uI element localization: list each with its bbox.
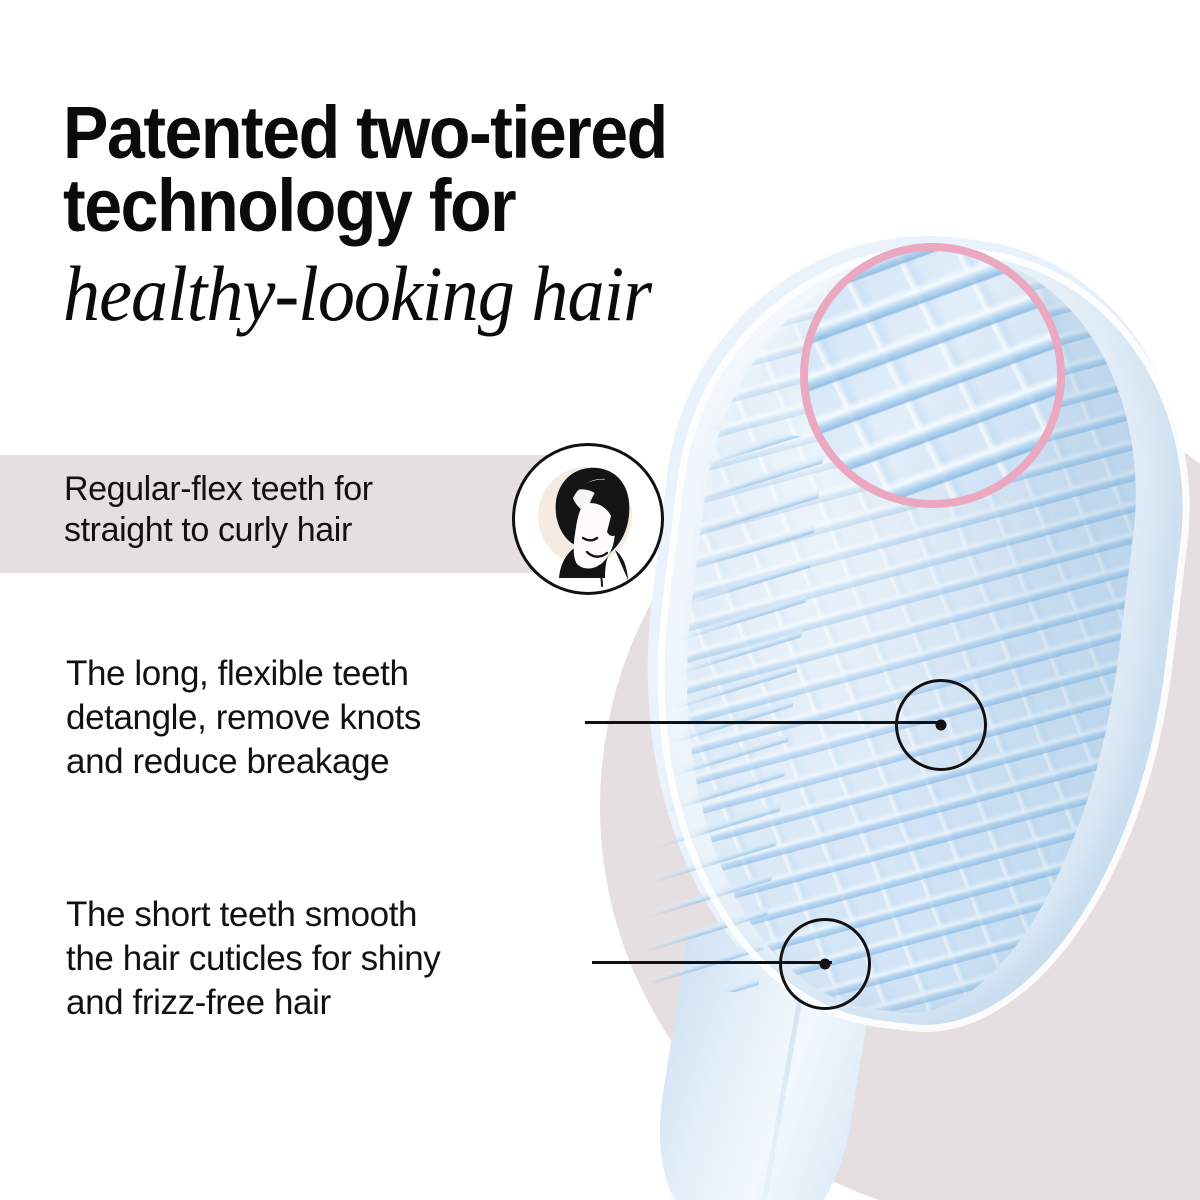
long-teeth-marker-dot (936, 720, 947, 731)
short-teeth-marker (779, 918, 871, 1010)
short-teeth-marker-dot (820, 959, 831, 970)
headline-italic-text: healthy-looking hair (63, 255, 861, 333)
long-teeth-marker (895, 679, 987, 771)
callout-long-teeth-leader-line (585, 721, 937, 724)
page-title: Patented two-tiered technology for healt… (63, 96, 903, 333)
feature-band-label: Regular-flex teeth for straight to curly… (64, 469, 504, 552)
callout-long-teeth-text: The long, flexible teeth detangle, remov… (66, 652, 586, 784)
headline-bold-text: Patented two-tiered technology for (63, 96, 836, 243)
callout-short-teeth-text: The short teeth smooth the hair cuticles… (66, 893, 606, 1025)
woman-with-wavy-hair-avatar-icon (512, 443, 664, 595)
infographic-canvas: Patented two-tiered technology for healt… (0, 0, 1200, 1200)
